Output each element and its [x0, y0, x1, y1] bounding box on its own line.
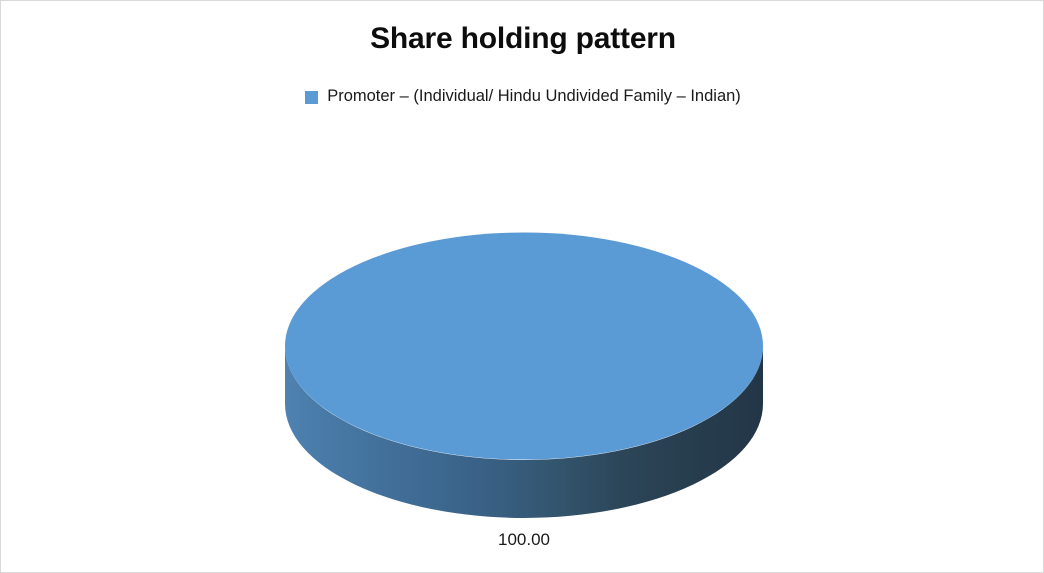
pie-chart-plot-area [284, 232, 764, 520]
legend-item-promoter[interactable]: Promoter – (Individual/ Hindu Undivided … [305, 85, 741, 107]
legend-swatch-icon [305, 91, 318, 104]
pie-slice-promoter[interactable] [285, 233, 763, 460]
pie-data-label-value: 100.00 [498, 530, 550, 549]
chart-container: Share holding pattern Promoter – (Indivi… [0, 0, 1044, 573]
chart-title: Share holding pattern [1, 19, 1044, 59]
pie-data-label: 100.00 [1, 529, 1044, 551]
legend-item-label: Promoter – (Individual/ Hindu Undivided … [327, 85, 741, 107]
chart-legend: Promoter – (Individual/ Hindu Undivided … [1, 85, 1044, 107]
pie-3d-graphic [284, 232, 764, 520]
